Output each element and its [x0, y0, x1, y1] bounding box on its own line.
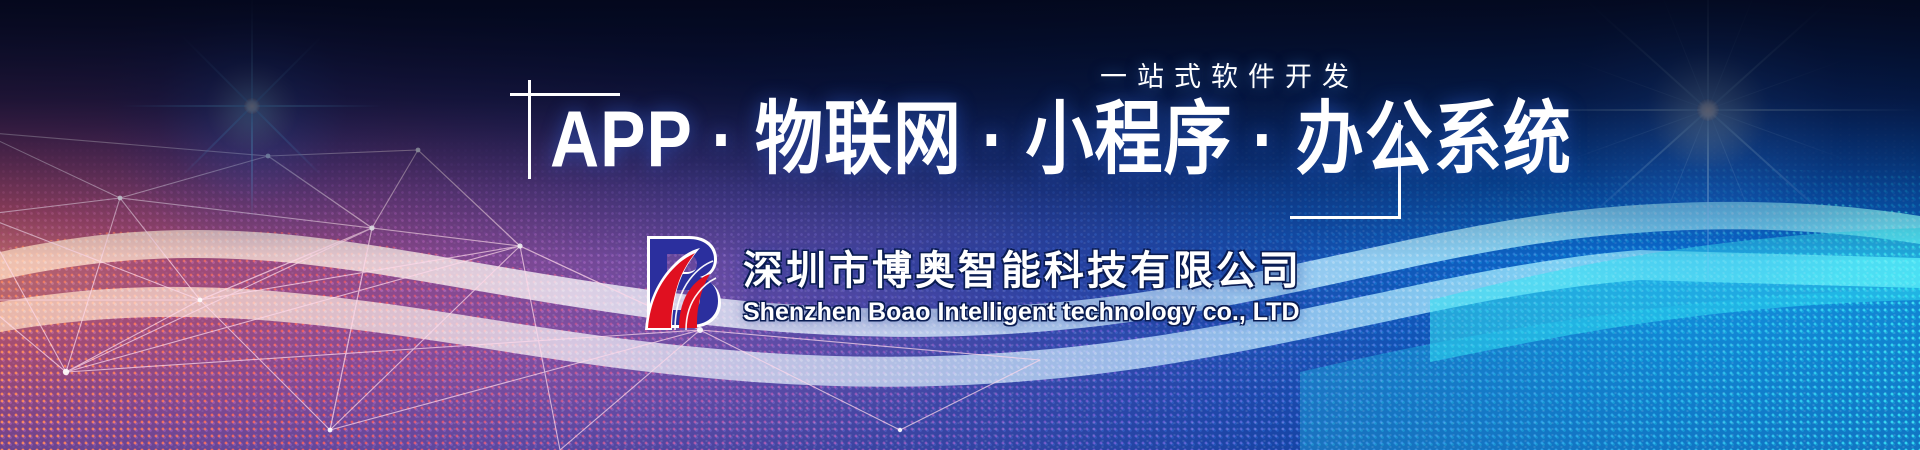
- company-name-block: 深圳市博奥智能科技有限公司 Shenzhen Boao Intelligent …: [743, 238, 1302, 327]
- boao-b-logo-icon: [631, 230, 729, 334]
- corner-bracket-left-vertical: [528, 80, 531, 179]
- brand-row: 深圳市博奥智能科技有限公司 Shenzhen Boao Intelligent …: [631, 230, 1302, 334]
- company-name-english: Shenzhen Boao Intelligent technology co.…: [743, 298, 1302, 327]
- company-name-chinese: 深圳市博奥智能科技有限公司: [743, 238, 1302, 296]
- banner-headline: APP · 物联网 · 小程序 · 办公系统: [550, 99, 1572, 179]
- corner-bracket-right-horizontal: [1290, 216, 1401, 219]
- banner-content: 一站式软件开发 APP · 物联网 · 小程序 · 办公系统: [0, 0, 1920, 450]
- banner-tagline: 一站式软件开发: [1100, 55, 1359, 94]
- promo-banner: 一站式软件开发 APP · 物联网 · 小程序 · 办公系统: [0, 0, 1920, 450]
